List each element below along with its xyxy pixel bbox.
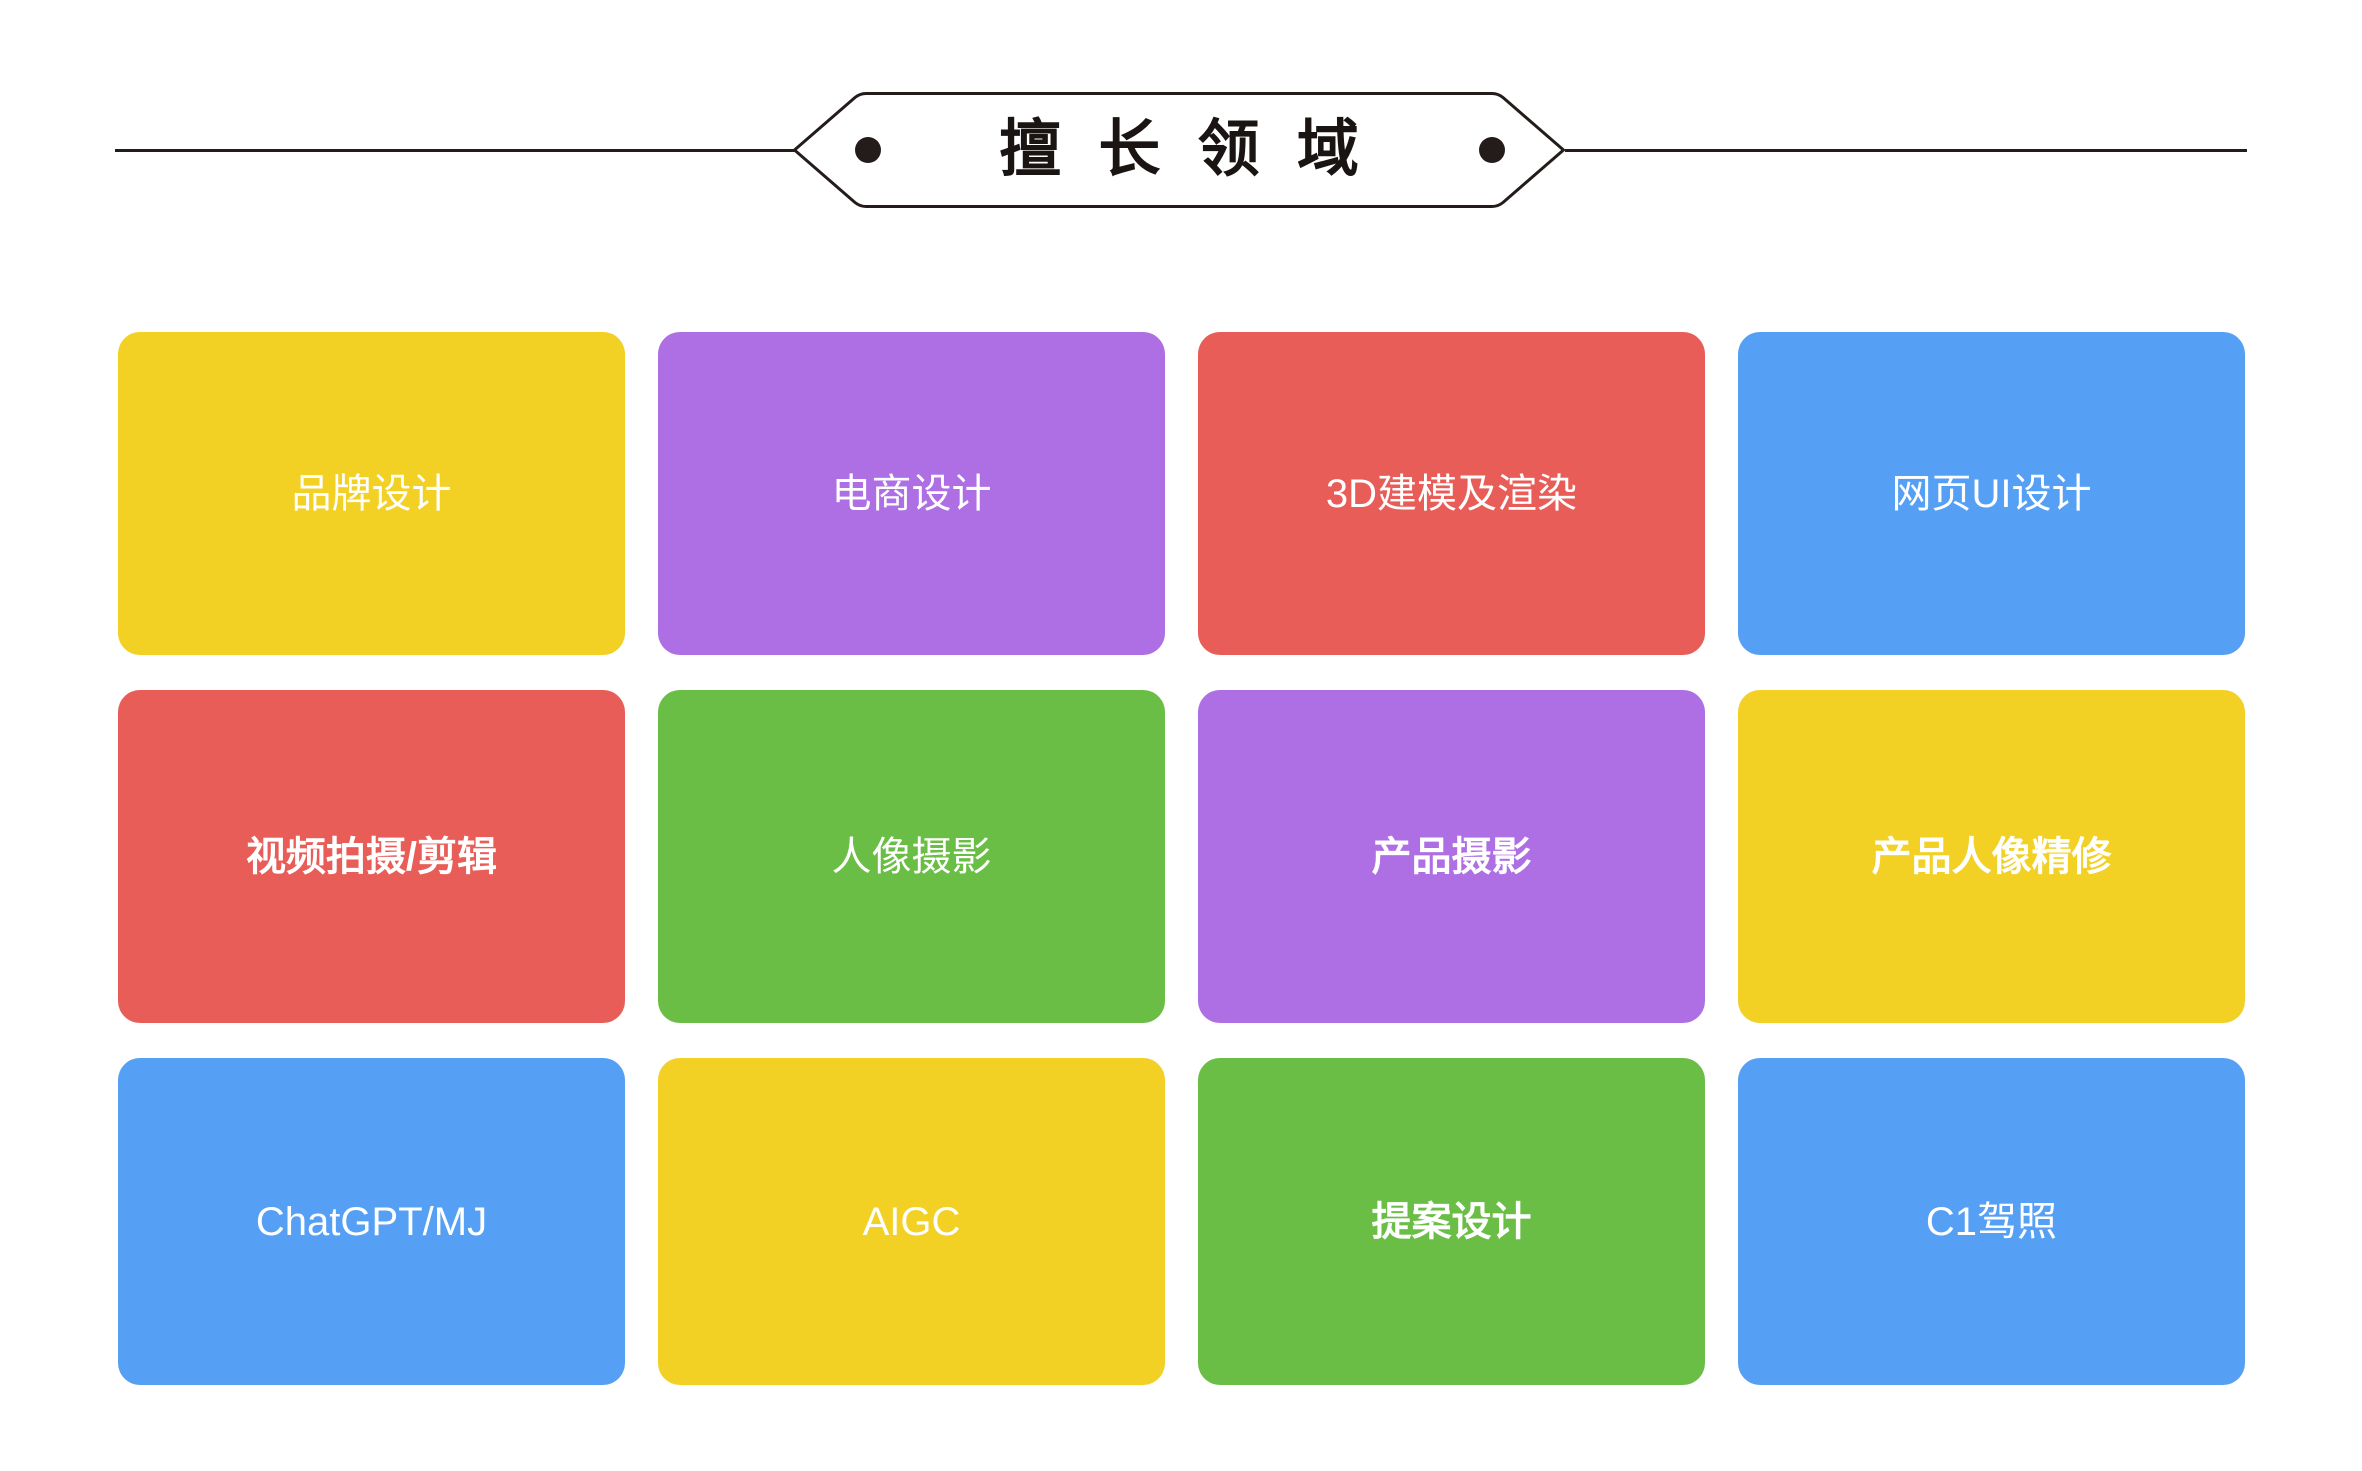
skill-card-portrait-photo[interactable]: 人像摄影 [658,690,1165,1023]
skill-card-c1-license[interactable]: C1驾照 [1738,1058,2245,1385]
skill-card-chatgpt-mj[interactable]: ChatGPT/MJ [118,1058,625,1385]
skill-card-3d-modeling[interactable]: 3D建模及渲染 [1198,332,1705,655]
skill-card-brand-design[interactable]: 品牌设计 [118,332,625,655]
skill-card-product-photo[interactable]: 产品摄影 [1198,690,1705,1023]
skill-card-video-shoot-edit[interactable]: 视频拍摄/剪辑 [118,690,625,1023]
page-title: 擅 长 领 域 [793,92,1565,208]
skill-card-web-ui-design[interactable]: 网页UI设计 [1738,332,2245,655]
skill-card-aigc[interactable]: AIGC [658,1058,1165,1385]
skills-grid: 品牌设计 电商设计 3D建模及渲染 网页UI设计 视频拍摄/剪辑 人像摄影 产品… [118,332,2245,1385]
header-rule-left [115,149,795,152]
skill-card-proposal-design[interactable]: 提案设计 [1198,1058,1705,1385]
skill-card-ecommerce-design[interactable]: 电商设计 [658,332,1165,655]
page-header: 擅 长 领 域 [0,0,2362,240]
skill-card-product-retouch[interactable]: 产品人像精修 [1738,690,2245,1023]
title-banner: 擅 长 领 域 [793,92,1565,208]
header-rule-right [1565,149,2247,152]
